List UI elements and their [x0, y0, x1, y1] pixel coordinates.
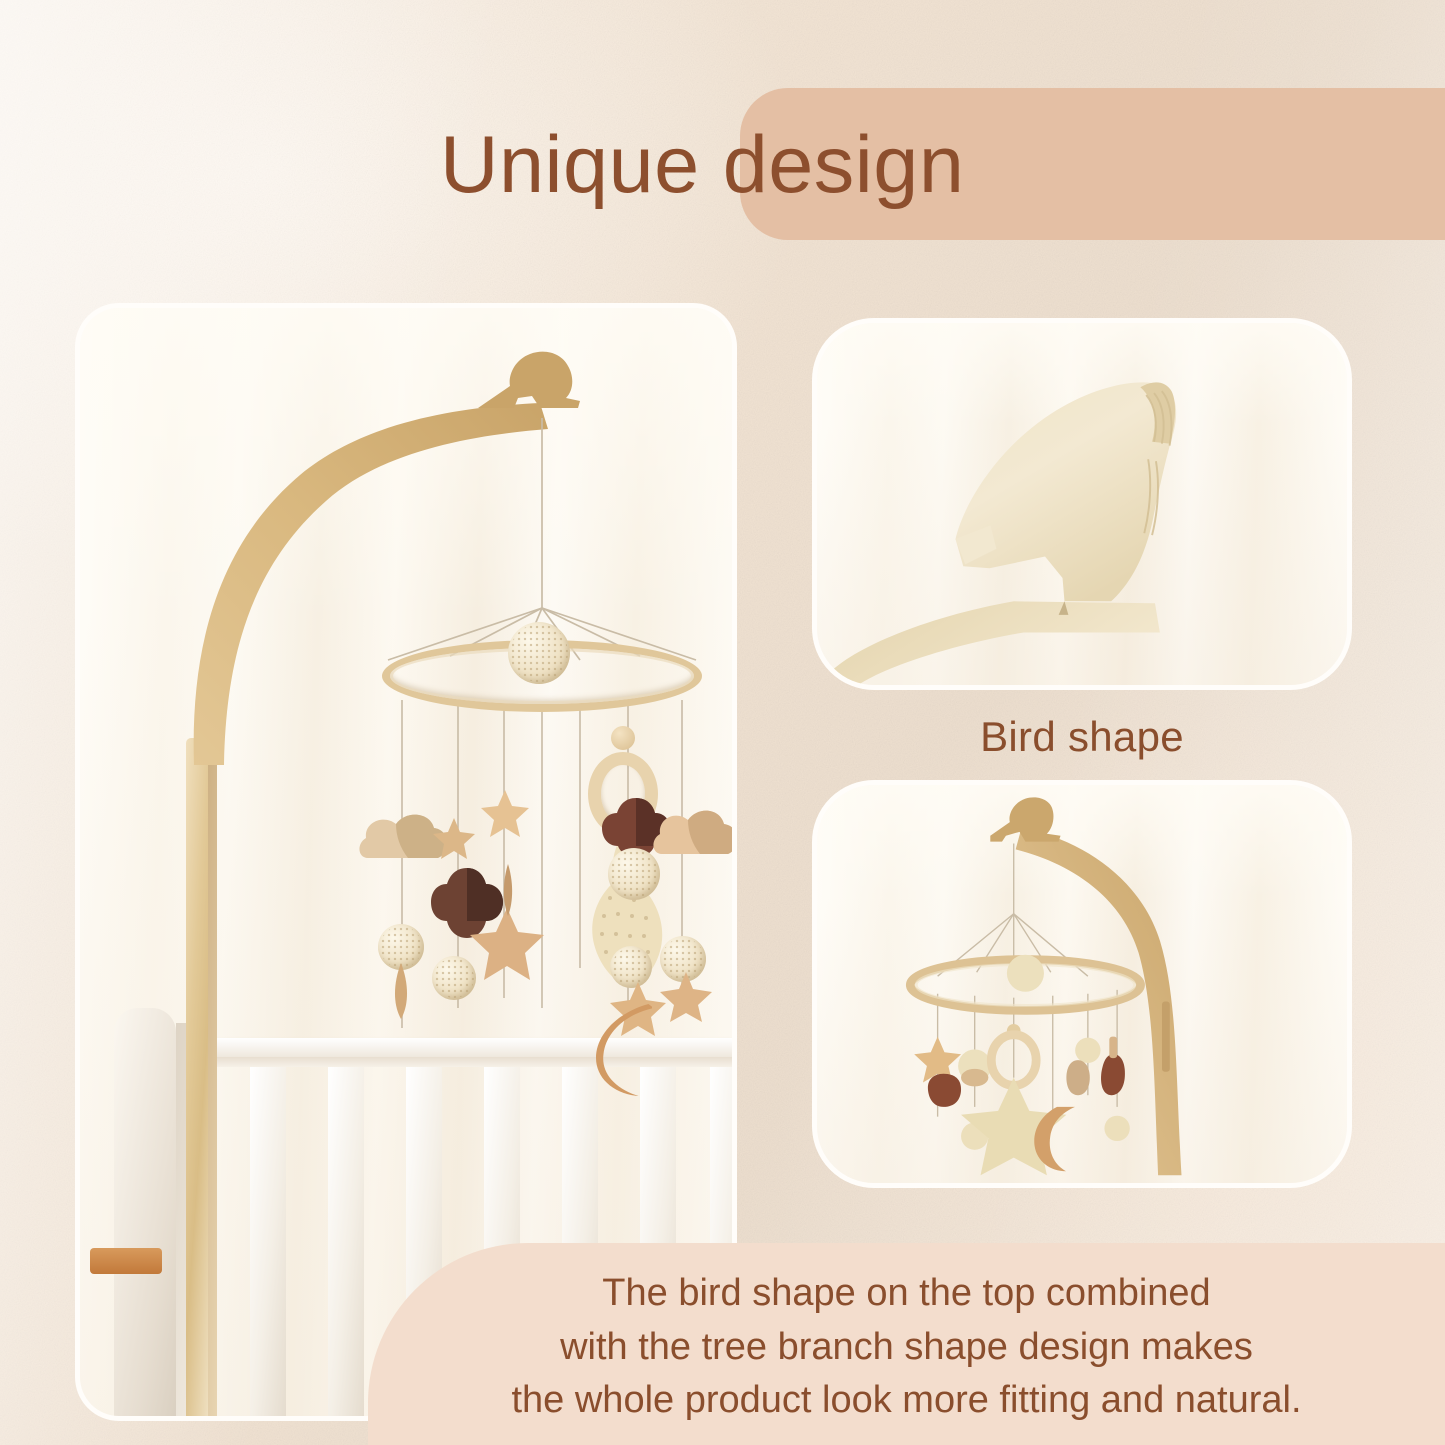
caption-line-3: the whole product look more fitting and … — [511, 1375, 1301, 1426]
caption-line-1: The bird shape on the top combined — [602, 1268, 1210, 1319]
bird-icon — [817, 323, 1347, 685]
star-ornament-icon — [658, 970, 714, 1024]
caption-line-2: with the tree branch shape design makes — [560, 1322, 1253, 1373]
page-title: Unique design — [440, 110, 1445, 220]
full-mobile-artwork — [817, 785, 1347, 1183]
wood-leaf-ornament-icon — [500, 864, 516, 916]
wood-bead-icon — [611, 726, 635, 750]
star-ornament-icon — [480, 788, 530, 838]
bird-shape-label: Bird shape — [812, 706, 1352, 768]
wood-drop-ornament-icon — [390, 963, 412, 1019]
cloud-ornament-icon — [650, 804, 737, 862]
full-product-photo — [812, 780, 1352, 1188]
caption-text: The bird shape on the top combined with … — [368, 1252, 1445, 1442]
moon-ornament-icon — [570, 1002, 652, 1098]
star-ornament-icon — [468, 906, 546, 982]
crochet-ball-icon — [508, 622, 570, 684]
star-ornament-icon — [432, 816, 476, 860]
bird-shape-closeup-photo — [812, 318, 1352, 690]
